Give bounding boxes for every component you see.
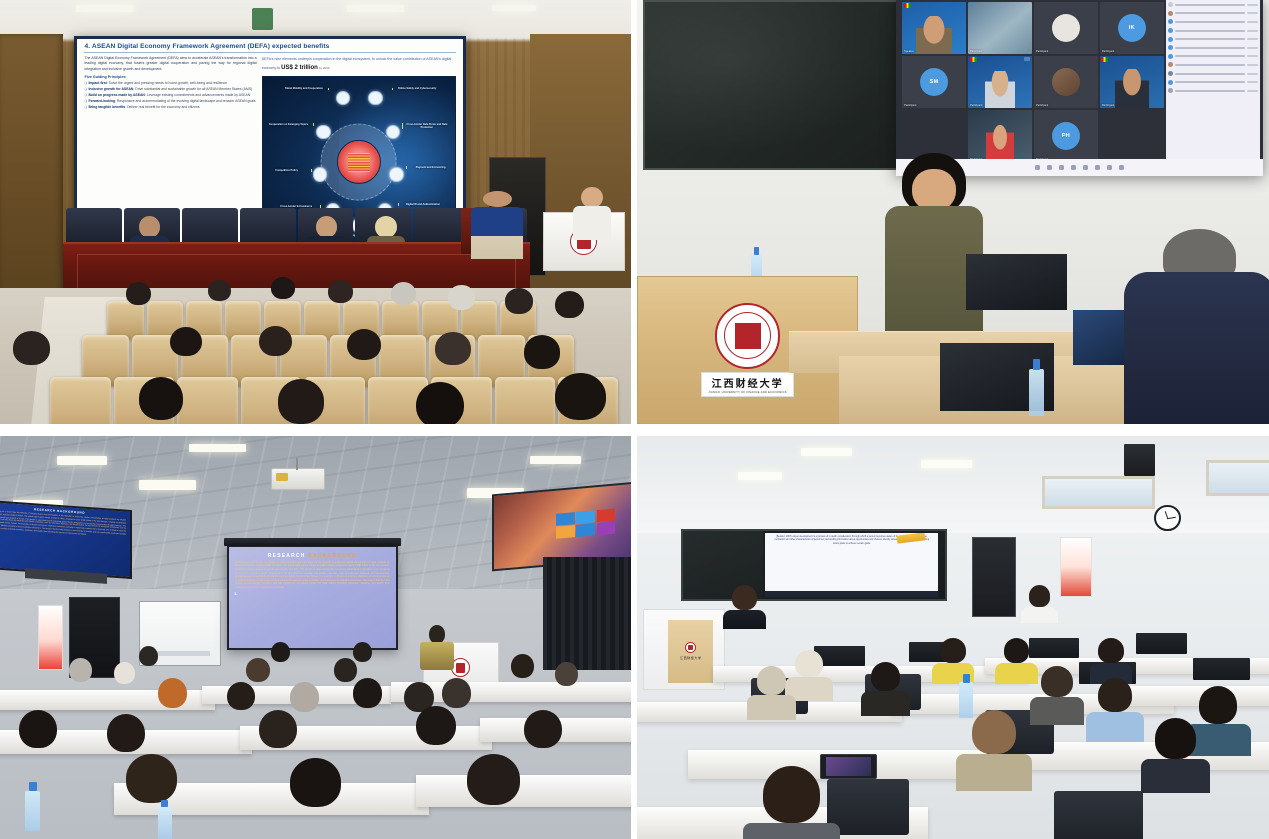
slide-title-secondary: BACKGROUND bbox=[308, 553, 357, 559]
slide-title-primary: RESEARCH bbox=[268, 553, 306, 559]
participants-icon[interactable] bbox=[1071, 165, 1076, 170]
audience-head bbox=[555, 291, 584, 318]
window bbox=[1042, 476, 1156, 508]
audience-head bbox=[328, 280, 353, 303]
diagram-label: Online Safety and Cybersecurity bbox=[395, 87, 439, 90]
mic-camera-icons bbox=[1247, 21, 1258, 23]
slide-title: RESEARCH BACKGROUND bbox=[235, 553, 389, 559]
avatar bbox=[1052, 14, 1080, 42]
video-tile[interactable]: Participant bbox=[1034, 2, 1098, 54]
audience-head bbox=[505, 288, 533, 313]
avatar bbox=[1168, 54, 1173, 59]
projector bbox=[271, 468, 325, 490]
attendee bbox=[795, 650, 823, 670]
attendee bbox=[1004, 638, 1029, 657]
monitor[interactable] bbox=[1193, 658, 1250, 680]
video-tile[interactable]: Participant bbox=[968, 2, 1032, 54]
blackboard bbox=[643, 0, 921, 170]
audience-head bbox=[271, 642, 290, 662]
university-name-en: JIANGXI UNIVERSITY OF FINANCE AND ECONOM… bbox=[708, 391, 786, 394]
diagram-node bbox=[386, 125, 400, 139]
audience-head bbox=[511, 654, 534, 678]
display-bezel bbox=[765, 591, 938, 597]
audience-head bbox=[416, 706, 455, 745]
audience-head bbox=[126, 754, 176, 802]
diagram-node bbox=[389, 167, 403, 181]
avatar bbox=[1168, 88, 1173, 93]
attendee bbox=[1199, 686, 1237, 714]
audience-head bbox=[524, 335, 561, 369]
list-item: Impact first: Solve the urgent and press… bbox=[84, 81, 256, 86]
video-tile[interactable]: PH Participant bbox=[1034, 110, 1098, 162]
tablet[interactable] bbox=[820, 754, 877, 778]
audience-head bbox=[19, 710, 57, 748]
slide-title: 4. ASEAN Digital Economy Framework Agree… bbox=[84, 43, 455, 53]
video-tile[interactable]: Participant bbox=[1100, 56, 1164, 108]
slide-principles-heading: Five Guiding Principles: bbox=[84, 75, 256, 79]
audience-head bbox=[555, 373, 605, 420]
torso bbox=[1124, 272, 1269, 424]
principle-label: Bring tangible benefits bbox=[88, 105, 125, 109]
university-name-cn: 江西财经大学 bbox=[708, 375, 786, 390]
audience-head bbox=[278, 379, 325, 424]
record-icon[interactable] bbox=[1095, 165, 1100, 170]
principle-label: Inclusive growth for ASEAN bbox=[88, 87, 133, 91]
photo-panel-auditorium: 4. ASEAN Digital Economy Framework Agree… bbox=[0, 0, 631, 424]
audience-head bbox=[271, 277, 295, 299]
audience-head bbox=[208, 280, 231, 301]
ceiling-light bbox=[738, 472, 782, 479]
window bbox=[1206, 460, 1269, 496]
avatar-initials: SM bbox=[920, 68, 948, 96]
panelist bbox=[316, 216, 337, 241]
list-item[interactable] bbox=[1168, 1, 1258, 8]
audience-head bbox=[139, 377, 183, 419]
audience-head bbox=[259, 326, 292, 357]
mic-camera-icons bbox=[1247, 38, 1258, 40]
audience-head bbox=[107, 714, 145, 752]
ceiling-light bbox=[921, 460, 972, 468]
desk bbox=[1117, 686, 1269, 706]
attendee bbox=[1041, 666, 1073, 690]
seat-row bbox=[50, 377, 618, 424]
audience-head bbox=[246, 658, 270, 682]
video-conference-grid[interactable]: Speaker Participant Participant IK Parti… bbox=[899, 0, 1166, 171]
ceiling-light bbox=[76, 5, 133, 12]
audience-head bbox=[334, 658, 357, 682]
curtain bbox=[543, 557, 631, 670]
reactions-icon[interactable] bbox=[1107, 165, 1112, 170]
attendee-with-cap bbox=[972, 710, 1016, 742]
diagram-label: Payment and E-Invoicing bbox=[409, 166, 453, 169]
panelist bbox=[375, 216, 396, 241]
principle-text: : Drive substantial and sustainable grow… bbox=[133, 87, 252, 91]
chair bbox=[240, 208, 296, 246]
photo-panel-classroom-tv: (Bessler, 1997) career development is a … bbox=[637, 436, 1269, 839]
diagram-node bbox=[316, 125, 330, 139]
attendee bbox=[871, 662, 900, 684]
leave-icon[interactable] bbox=[1119, 165, 1124, 170]
audience-head bbox=[139, 646, 158, 666]
audience-head bbox=[448, 285, 475, 310]
slide-highlight: DEFA's nine elements underpin cooperatio… bbox=[262, 56, 456, 74]
ceiling-light bbox=[57, 456, 107, 465]
video-tile[interactable]: SM Participant bbox=[902, 56, 966, 108]
avatar bbox=[1168, 62, 1173, 67]
slide-principles-list: Impact first: Solve the urgent and press… bbox=[84, 81, 256, 111]
chair bbox=[1054, 791, 1142, 839]
wall-speaker bbox=[1124, 444, 1156, 476]
moderator bbox=[581, 187, 602, 217]
audience-head bbox=[467, 754, 520, 804]
laptop[interactable] bbox=[966, 254, 1067, 309]
list-item[interactable] bbox=[1168, 79, 1258, 86]
diagram-label: Cross-border Data Flows and Data Protect… bbox=[405, 123, 449, 129]
audience-head bbox=[353, 678, 382, 708]
audience-head bbox=[290, 758, 340, 806]
list-item[interactable] bbox=[1168, 87, 1258, 94]
lectern-front: 江西财经大学 bbox=[668, 620, 713, 683]
avatar-initials: PH bbox=[1052, 122, 1080, 150]
audience-head bbox=[114, 662, 135, 685]
participant-name: Participant bbox=[1036, 104, 1048, 107]
mic-camera-icons bbox=[1247, 90, 1258, 92]
audience-head bbox=[347, 329, 381, 360]
avatar bbox=[1168, 28, 1173, 33]
mic-camera-icons bbox=[1247, 64, 1258, 66]
audience-head bbox=[391, 282, 416, 305]
screen-roller bbox=[224, 538, 400, 546]
photo-collage: 4. ASEAN Digital Economy Framework Agree… bbox=[0, 0, 1269, 839]
photo-panel-hybrid-session: Speaker Participant Participant IK Parti… bbox=[637, 0, 1269, 424]
university-seal-icon bbox=[685, 642, 696, 653]
flag-icon bbox=[904, 3, 911, 8]
list-item[interactable] bbox=[1168, 10, 1258, 17]
principle-text: : Deliver real benefit for the economy a… bbox=[125, 105, 199, 109]
ceiling-light bbox=[347, 5, 404, 12]
participant-list-panel[interactable] bbox=[1166, 0, 1260, 171]
avatar bbox=[1168, 2, 1173, 7]
audience-head bbox=[442, 678, 471, 708]
participant-name: Participant bbox=[1102, 104, 1114, 107]
list-item[interactable] bbox=[1168, 44, 1258, 51]
mic-camera-icons bbox=[1247, 47, 1258, 49]
participant-name: Participant bbox=[970, 104, 982, 107]
audience-head bbox=[353, 642, 372, 662]
audience-head bbox=[290, 682, 319, 712]
video-tile-empty bbox=[1100, 110, 1164, 162]
audience-head bbox=[158, 678, 187, 708]
presenter-head bbox=[429, 625, 445, 643]
water-bottle bbox=[1029, 369, 1044, 416]
attendee bbox=[757, 666, 786, 688]
principle-text: : Leverage existing commitments and adva… bbox=[145, 93, 250, 97]
diagram-node bbox=[313, 167, 327, 181]
university-seal-icon bbox=[715, 303, 781, 369]
attendee bbox=[1098, 638, 1123, 657]
list-item[interactable] bbox=[1168, 18, 1258, 25]
monitor[interactable] bbox=[1136, 633, 1187, 653]
ceiling-light bbox=[801, 448, 852, 456]
video-tile[interactable]: Participant bbox=[1034, 56, 1098, 108]
diagram-label: Cooperation on Emerging Topics bbox=[266, 123, 310, 126]
ceiling-light bbox=[530, 456, 580, 464]
participant-name: Participant bbox=[1036, 50, 1048, 53]
windows-tiles bbox=[556, 509, 615, 539]
mic-camera-icons bbox=[1247, 30, 1258, 32]
video-tile[interactable]: Participant bbox=[968, 56, 1032, 108]
flag-icon bbox=[970, 57, 977, 62]
monitor[interactable] bbox=[1029, 638, 1080, 658]
audience-head bbox=[126, 282, 151, 305]
attendee bbox=[1124, 229, 1269, 424]
list-item[interactable] bbox=[1168, 27, 1258, 34]
share-screen-icon[interactable] bbox=[1059, 165, 1064, 170]
avatar bbox=[1052, 68, 1080, 96]
avatar bbox=[1168, 37, 1173, 42]
asean-logo-hub bbox=[337, 140, 381, 184]
mic-camera-icons bbox=[1247, 55, 1258, 57]
ceiling-light bbox=[139, 480, 196, 490]
presenter bbox=[483, 191, 512, 259]
list-item[interactable] bbox=[1168, 61, 1258, 68]
diagram-label: Competition Policy bbox=[264, 169, 308, 172]
wall-poster bbox=[1060, 537, 1092, 597]
face bbox=[912, 169, 956, 212]
principle-label: Forward-looking bbox=[88, 99, 115, 103]
principle-text: : Solve the urgent and pressing needs to… bbox=[107, 81, 227, 85]
attendee-recording bbox=[763, 766, 820, 810]
presenter-body bbox=[420, 642, 455, 670]
wall-poster bbox=[38, 605, 63, 669]
chair bbox=[66, 208, 122, 246]
slide-paragraph: The ASEAN Digital Economy Framework Agre… bbox=[84, 56, 256, 72]
list-item: Forward-looking: Responsive and accommod… bbox=[84, 99, 256, 104]
audience-head bbox=[435, 332, 470, 365]
list-item: Bring tangible benefits: Deliver real be… bbox=[84, 105, 256, 110]
ceiling-light bbox=[492, 5, 536, 11]
list-item[interactable] bbox=[1168, 53, 1258, 60]
ceiling-light bbox=[189, 444, 246, 452]
thermos bbox=[959, 682, 973, 718]
university-name-cn: 江西财经大学 bbox=[680, 656, 702, 660]
mic-camera-icons bbox=[1247, 73, 1258, 75]
attendee bbox=[1098, 678, 1132, 704]
avatar bbox=[1168, 45, 1173, 50]
audience-head bbox=[69, 658, 92, 682]
participant-name: Participant bbox=[1102, 50, 1114, 53]
attendee bbox=[940, 638, 965, 657]
slide-body: According to a report from the Ministry … bbox=[235, 561, 389, 590]
desk bbox=[416, 775, 631, 807]
attendee bbox=[1155, 718, 1195, 748]
audience-head bbox=[259, 710, 297, 748]
wall-display[interactable]: (Bessler, 1997) career development is a … bbox=[763, 531, 940, 600]
list-item: Inclusive growth for ASEAN: Drive substa… bbox=[84, 87, 256, 92]
list-item[interactable] bbox=[1168, 70, 1258, 77]
diagram-node bbox=[336, 91, 350, 105]
diagram-node bbox=[368, 91, 382, 105]
staff-member bbox=[1029, 585, 1050, 599]
avatar bbox=[1168, 71, 1173, 76]
mic-camera-icons bbox=[1247, 4, 1258, 6]
pin-badge bbox=[1024, 57, 1030, 61]
audience-head bbox=[13, 331, 51, 365]
mic-camera-icons bbox=[1247, 12, 1258, 14]
video-tile[interactable]: Speaker bbox=[902, 2, 966, 54]
audience-head bbox=[555, 662, 578, 686]
audience-head bbox=[227, 682, 255, 710]
photo-panel-classroom-projector: RESEARCH BACKGROUND According to a repor… bbox=[0, 436, 631, 839]
slide-number: 1. bbox=[234, 591, 237, 596]
principle-label: Build on progress made by ASEAN bbox=[88, 93, 144, 97]
participant-name: Participant bbox=[904, 104, 916, 107]
principle-label: Impact first bbox=[88, 81, 106, 85]
avatar bbox=[1168, 11, 1173, 16]
mic-icon[interactable] bbox=[1035, 165, 1040, 170]
participant-name: Participant bbox=[970, 50, 982, 53]
highlight-suffix: by 2030 bbox=[319, 66, 330, 70]
participant-name: Speaker bbox=[904, 50, 914, 53]
principle-text: : Responsive and accommodating of the ev… bbox=[115, 99, 256, 103]
side-monitor: RESEARCH BACKGROUND According to a repor… bbox=[0, 499, 133, 578]
chair bbox=[182, 208, 238, 246]
door[interactable] bbox=[972, 537, 1016, 618]
video-tile[interactable]: IK Participant bbox=[1100, 2, 1164, 54]
wall-display[interactable]: Speaker Participant Participant IK Parti… bbox=[896, 0, 1263, 174]
wall-panel-left bbox=[0, 34, 63, 297]
chat-icon[interactable] bbox=[1083, 165, 1088, 170]
wall-clock bbox=[1154, 505, 1181, 532]
panelist bbox=[139, 216, 160, 241]
avatar bbox=[1168, 80, 1173, 85]
university-name-plate: 江西财经大学 JIANGXI UNIVERSITY OF FINANCE AND… bbox=[701, 372, 793, 397]
highlight-value: US$ 2 trillion bbox=[281, 65, 318, 71]
projection-screen: RESEARCH BACKGROUND 1. According to a re… bbox=[227, 545, 397, 650]
exit-sign bbox=[252, 8, 272, 29]
diagram-label: Digital ID and Authentication bbox=[401, 203, 445, 206]
water-bottle bbox=[158, 807, 172, 839]
audience-head bbox=[170, 327, 202, 357]
audience-head bbox=[524, 710, 562, 748]
avatar bbox=[1168, 19, 1173, 24]
list-item[interactable] bbox=[1168, 36, 1258, 43]
diagram-label: Talent Mobility and Cooperation bbox=[282, 87, 326, 90]
list-item: Build on progress made by ASEAN: Leverag… bbox=[84, 93, 256, 98]
flag-icon bbox=[1101, 57, 1108, 62]
avatar-initials: IK bbox=[1118, 14, 1146, 42]
mic-camera-icons bbox=[1247, 81, 1258, 83]
camera-icon[interactable] bbox=[1047, 165, 1052, 170]
water-bottle bbox=[25, 791, 40, 831]
presenter bbox=[732, 585, 757, 601]
